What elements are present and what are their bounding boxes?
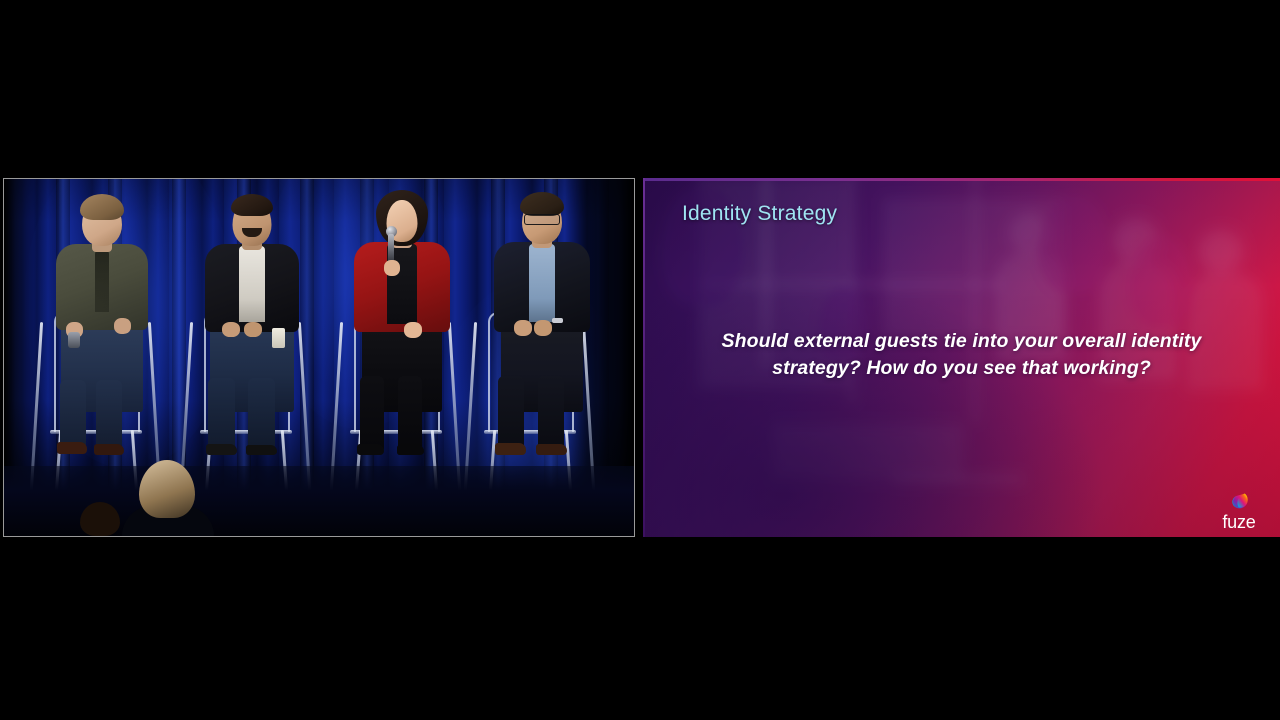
panelist-3	[342, 194, 462, 494]
panelist-4-blue-shirt	[529, 244, 555, 322]
panelist-2-hair	[231, 194, 273, 216]
panelist-4-shoe-left	[495, 443, 526, 455]
panelist-1	[42, 194, 162, 494]
panelist-1-shirt-placket	[95, 250, 109, 312]
panelist-2	[192, 194, 312, 494]
fuze-logo: fuze	[1212, 490, 1266, 531]
panelist-1-leg-left	[60, 380, 86, 446]
panelist-2-hand-left	[222, 322, 240, 337]
panelist-3-hand-mic	[384, 260, 400, 276]
glasses-icon	[524, 214, 560, 225]
panelist-1-leg-right	[96, 380, 122, 446]
panelist-3-leg-right	[398, 376, 422, 450]
presentation-slide[interactable]: Identity Strategy Should external guests…	[643, 178, 1280, 537]
panelist-4-leg-right	[538, 376, 564, 448]
wristwatch	[552, 318, 563, 323]
panelist-1-shoe-left	[57, 442, 87, 454]
water-cup	[272, 328, 285, 348]
panelist-2-shoe-right	[246, 445, 277, 455]
slide-body-line-1: Should external guests tie into your ove…	[695, 328, 1228, 355]
panelist-4-hand-right	[534, 320, 552, 336]
screen-root: Identity Strategy Should external guests…	[0, 0, 1280, 720]
panelist-4-hand-left	[514, 320, 532, 336]
panelist-1-hand-right	[114, 318, 131, 334]
panelist-4-shoe-right	[536, 444, 567, 455]
panelist-3-shoe-left	[357, 444, 384, 455]
panelist-3-leg-left	[360, 376, 384, 450]
slide-left-accent-bar	[643, 178, 645, 537]
audience-head-2	[80, 502, 120, 536]
panelist-3-hand-lap	[404, 322, 422, 338]
panelist-4-hair	[520, 192, 564, 216]
fuze-wordmark: fuze	[1212, 513, 1266, 531]
slide-title: Identity Strategy	[682, 202, 837, 226]
panelist-1-shoe-right	[94, 444, 124, 455]
panelist-2-leg-right	[248, 378, 275, 448]
panelist-4-leg-left	[498, 376, 524, 448]
slide-body-line-2: strategy? How do you see that working?	[695, 355, 1228, 382]
panelist-2-dress-shirt	[239, 246, 265, 322]
fuze-swirl-icon	[1228, 490, 1250, 512]
panelist-2-shoe-left	[206, 444, 237, 455]
panelist-2-leg-left	[208, 378, 235, 448]
stage-scene	[4, 179, 634, 536]
presentation-clicker	[68, 332, 80, 348]
live-stage-camera-feed[interactable]	[3, 178, 635, 537]
panelist-1-hair	[80, 194, 124, 220]
panelist-3-shoe-right	[397, 445, 424, 455]
panelist-4	[482, 194, 602, 494]
panelist-2-hand-right	[244, 322, 262, 337]
slide-body-text: Should external guests tie into your ove…	[695, 328, 1228, 382]
slide-top-accent-bar	[643, 178, 1280, 181]
